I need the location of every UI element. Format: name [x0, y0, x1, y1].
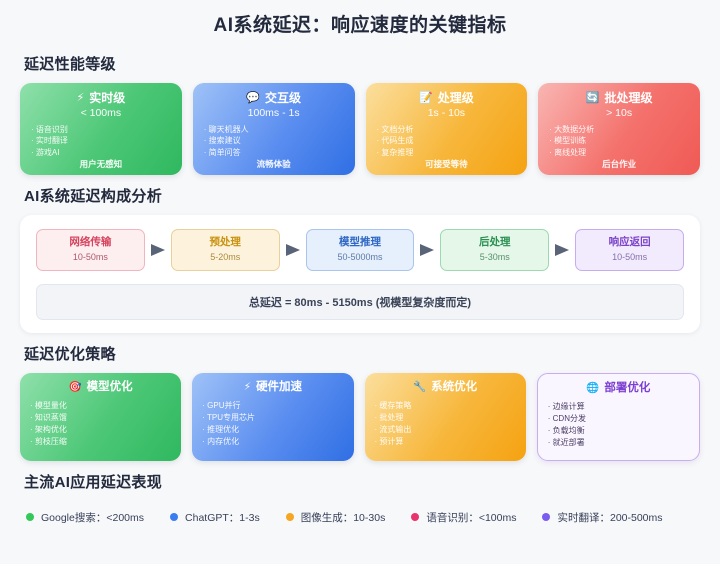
flow-diagram: 网络传输 10-50ms 预处理 5-20ms 模型推理 50-5000ms — [36, 229, 684, 271]
optimization-bullets: 缓存策略 批处理 流式输出 预计算 — [375, 400, 516, 448]
tier-footer: 用户无感知 — [30, 158, 172, 170]
speech-bubble-icon: 💬 — [246, 93, 260, 104]
flow-step-postprocess[interactable]: 后处理 5-30ms — [440, 229, 549, 271]
tier-bullet: 聊天机器人 — [204, 124, 345, 135]
arrow-right-icon — [280, 242, 306, 258]
tier-name: 批处理级 — [604, 92, 652, 104]
infographic-page: AI系统延迟：响应速度的关键指标 延迟性能等级 ⚡ 实时级 < 100ms 语音… — [0, 0, 720, 564]
legend-label: 实时翻译：200-500ms — [557, 510, 662, 525]
lightning-icon: ⚡ — [244, 382, 251, 393]
legend-dot-icon — [542, 513, 550, 521]
tier-bullet: 实时翻译 — [31, 135, 172, 146]
arrow-right-icon — [549, 242, 575, 258]
tier-name: 实时级 — [89, 92, 125, 104]
tier-footer: 流畅体验 — [203, 158, 345, 170]
optimization-header: 🎯 模型优化 — [30, 382, 171, 394]
tier-bullet: 搜索建议 — [204, 135, 345, 146]
tier-bullets: 文档分析 代码生成 复杂推理 — [376, 124, 518, 158]
app-latency-legend: Google搜索：<200ms ChatGPT：1-3s 图像生成：10-30s… — [20, 501, 700, 525]
optimization-bullet: 边缘计算 — [548, 401, 689, 413]
flow-step-value: 5-20ms — [176, 252, 275, 262]
optimization-card-deployment[interactable]: 🌐 部署优化 边缘计算 CDN分发 负载均衡 就近部署 — [537, 373, 700, 461]
optimization-bullet: 架构优化 — [30, 424, 171, 436]
tier-card-batch[interactable]: 🔄 批处理级 > 10s 大数据分析 模型训练 离线处理 后台作业 — [538, 83, 700, 175]
recycle-icon: 🔄 — [586, 93, 600, 104]
globe-icon: 🌐 — [586, 383, 599, 394]
optimization-bullet: TPU专用芯片 — [202, 412, 343, 424]
legend-item: Google搜索：<200ms — [26, 510, 144, 525]
tier-range: 1s - 10s — [376, 107, 518, 119]
flow-step-name: 后处理 — [445, 237, 544, 249]
legend-label: 图像生成：10-30s — [301, 510, 386, 525]
legend-item: ChatGPT：1-3s — [170, 510, 260, 525]
section-heading-breakdown: AI系统延迟构成分析 — [24, 185, 700, 206]
tier-card-realtime[interactable]: ⚡ 实时级 < 100ms 语音识别 实时翻译 游戏AI 用户无感知 — [20, 83, 182, 175]
legend-dot-icon — [411, 513, 419, 521]
tier-bullets: 大数据分析 模型训练 离线处理 — [548, 124, 690, 158]
section-heading-tiers: 延迟性能等级 — [24, 53, 700, 74]
legend-label: ChatGPT：1-3s — [185, 510, 260, 525]
flow-step-network[interactable]: 网络传输 10-50ms — [36, 229, 145, 271]
memo-icon: 📝 — [419, 93, 433, 104]
tier-header: 🔄 批处理级 — [548, 92, 690, 104]
arrow-right-icon — [145, 242, 171, 258]
optimization-card-system[interactable]: 🔧 系统优化 缓存策略 批处理 流式输出 预计算 — [365, 373, 526, 461]
tier-bullet: 复杂推理 — [377, 147, 518, 158]
optimization-name: 系统优化 — [431, 382, 477, 394]
optimization-card-model[interactable]: 🎯 模型优化 模型量化 知识蒸馏 架构优化 剪枝压缩 — [20, 373, 181, 461]
latency-tier-row: ⚡ 实时级 < 100ms 语音识别 实时翻译 游戏AI 用户无感知 💬 交互级… — [20, 83, 700, 175]
section-heading-optimization: 延迟优化策略 — [24, 343, 700, 364]
tier-header: ⚡ 实时级 — [30, 92, 172, 104]
tier-name: 处理级 — [438, 92, 474, 104]
legend-item: 语音识别：<100ms — [411, 510, 516, 525]
optimization-row: 🎯 模型优化 模型量化 知识蒸馏 架构优化 剪枝压缩 ⚡ 硬件加速 GPU并行 … — [20, 373, 700, 461]
flow-step-value: 5-30ms — [445, 252, 544, 262]
tier-card-processing[interactable]: 📝 处理级 1s - 10s 文档分析 代码生成 复杂推理 可接受等待 — [366, 83, 528, 175]
tier-bullet: 游戏AI — [31, 147, 172, 158]
optimization-bullets: GPU并行 TPU专用芯片 推理优化 内存优化 — [202, 400, 343, 448]
optimization-bullet: CDN分发 — [548, 413, 689, 425]
flow-step-name: 预处理 — [176, 237, 275, 249]
arrow-right-icon — [414, 242, 440, 258]
tier-header: 📝 处理级 — [376, 92, 518, 104]
tier-bullets: 聊天机器人 搜索建议 简单问答 — [203, 124, 345, 158]
optimization-header: ⚡ 硬件加速 — [202, 382, 343, 394]
tier-bullet: 文档分析 — [377, 124, 518, 135]
optimization-bullet: 内存优化 — [202, 436, 343, 448]
optimization-bullets: 边缘计算 CDN分发 负载均衡 就近部署 — [548, 401, 689, 449]
tier-bullet: 离线处理 — [549, 147, 690, 158]
optimization-bullet: 就近部署 — [548, 437, 689, 449]
legend-dot-icon — [286, 513, 294, 521]
flow-step-name: 模型推理 — [311, 237, 410, 249]
tier-footer: 可接受等待 — [376, 158, 518, 170]
flow-step-value: 50-5000ms — [311, 252, 410, 262]
tier-bullet: 模型训练 — [549, 135, 690, 146]
legend-item: 图像生成：10-30s — [286, 510, 386, 525]
optimization-bullet: 批处理 — [375, 412, 516, 424]
optimization-bullet: 预计算 — [375, 436, 516, 448]
optimization-bullet: 推理优化 — [202, 424, 343, 436]
target-icon: 🎯 — [69, 382, 82, 393]
tier-bullet: 语音识别 — [31, 124, 172, 135]
optimization-name: 部署优化 — [604, 383, 650, 395]
legend-dot-icon — [26, 513, 34, 521]
optimization-bullet: 知识蒸馏 — [30, 412, 171, 424]
wrench-icon: 🔧 — [413, 382, 426, 393]
lightning-icon: ⚡ — [77, 93, 85, 104]
tier-name: 交互级 — [265, 92, 301, 104]
flow-step-inference[interactable]: 模型推理 50-5000ms — [306, 229, 415, 271]
optimization-name: 硬件加速 — [256, 382, 302, 394]
tier-footer: 后台作业 — [548, 158, 690, 170]
optimization-header: 🌐 部署优化 — [548, 383, 689, 395]
legend-label: Google搜索：<200ms — [41, 510, 144, 525]
optimization-bullet: 剪枝压缩 — [30, 436, 171, 448]
optimization-bullets: 模型量化 知识蒸馏 架构优化 剪枝压缩 — [30, 400, 171, 448]
legend-item: 实时翻译：200-500ms — [542, 510, 662, 525]
optimization-bullet: 模型量化 — [30, 400, 171, 412]
flow-step-name: 响应返回 — [580, 237, 679, 249]
page-title: AI系统延迟：响应速度的关键指标 — [20, 0, 700, 43]
tier-header: 💬 交互级 — [203, 92, 345, 104]
optimization-card-hardware[interactable]: ⚡ 硬件加速 GPU并行 TPU专用芯片 推理优化 内存优化 — [192, 373, 353, 461]
optimization-name: 模型优化 — [87, 382, 133, 394]
flow-step-name: 网络传输 — [41, 237, 140, 249]
section-heading-apps: 主流AI应用延迟表现 — [24, 471, 700, 492]
legend-label: 语音识别：<100ms — [426, 510, 516, 525]
flow-step-value: 10-50ms — [41, 252, 140, 262]
latency-breakdown-panel: 网络传输 10-50ms 预处理 5-20ms 模型推理 50-5000ms — [20, 215, 700, 333]
tier-range: 100ms - 1s — [203, 107, 345, 119]
tier-bullets: 语音识别 实时翻译 游戏AI — [30, 124, 172, 158]
optimization-bullet: 缓存策略 — [375, 400, 516, 412]
optimization-bullet: 负载均衡 — [548, 425, 689, 437]
flow-step-response[interactable]: 响应返回 10-50ms — [575, 229, 684, 271]
tier-card-interactive[interactable]: 💬 交互级 100ms - 1s 聊天机器人 搜索建议 简单问答 流畅体验 — [193, 83, 355, 175]
optimization-bullet: GPU并行 — [202, 400, 343, 412]
tier-range: < 100ms — [30, 107, 172, 119]
optimization-bullet: 流式输出 — [375, 424, 516, 436]
tier-bullet: 代码生成 — [377, 135, 518, 146]
total-latency-summary: 总延迟 = 80ms - 5150ms (视模型复杂度而定) — [36, 284, 684, 320]
tier-range: > 10s — [548, 107, 690, 119]
tier-bullet: 大数据分析 — [549, 124, 690, 135]
optimization-header: 🔧 系统优化 — [375, 382, 516, 394]
flow-step-value: 10-50ms — [580, 252, 679, 262]
flow-step-preprocess[interactable]: 预处理 5-20ms — [171, 229, 280, 271]
tier-bullet: 简单问答 — [204, 147, 345, 158]
legend-dot-icon — [170, 513, 178, 521]
